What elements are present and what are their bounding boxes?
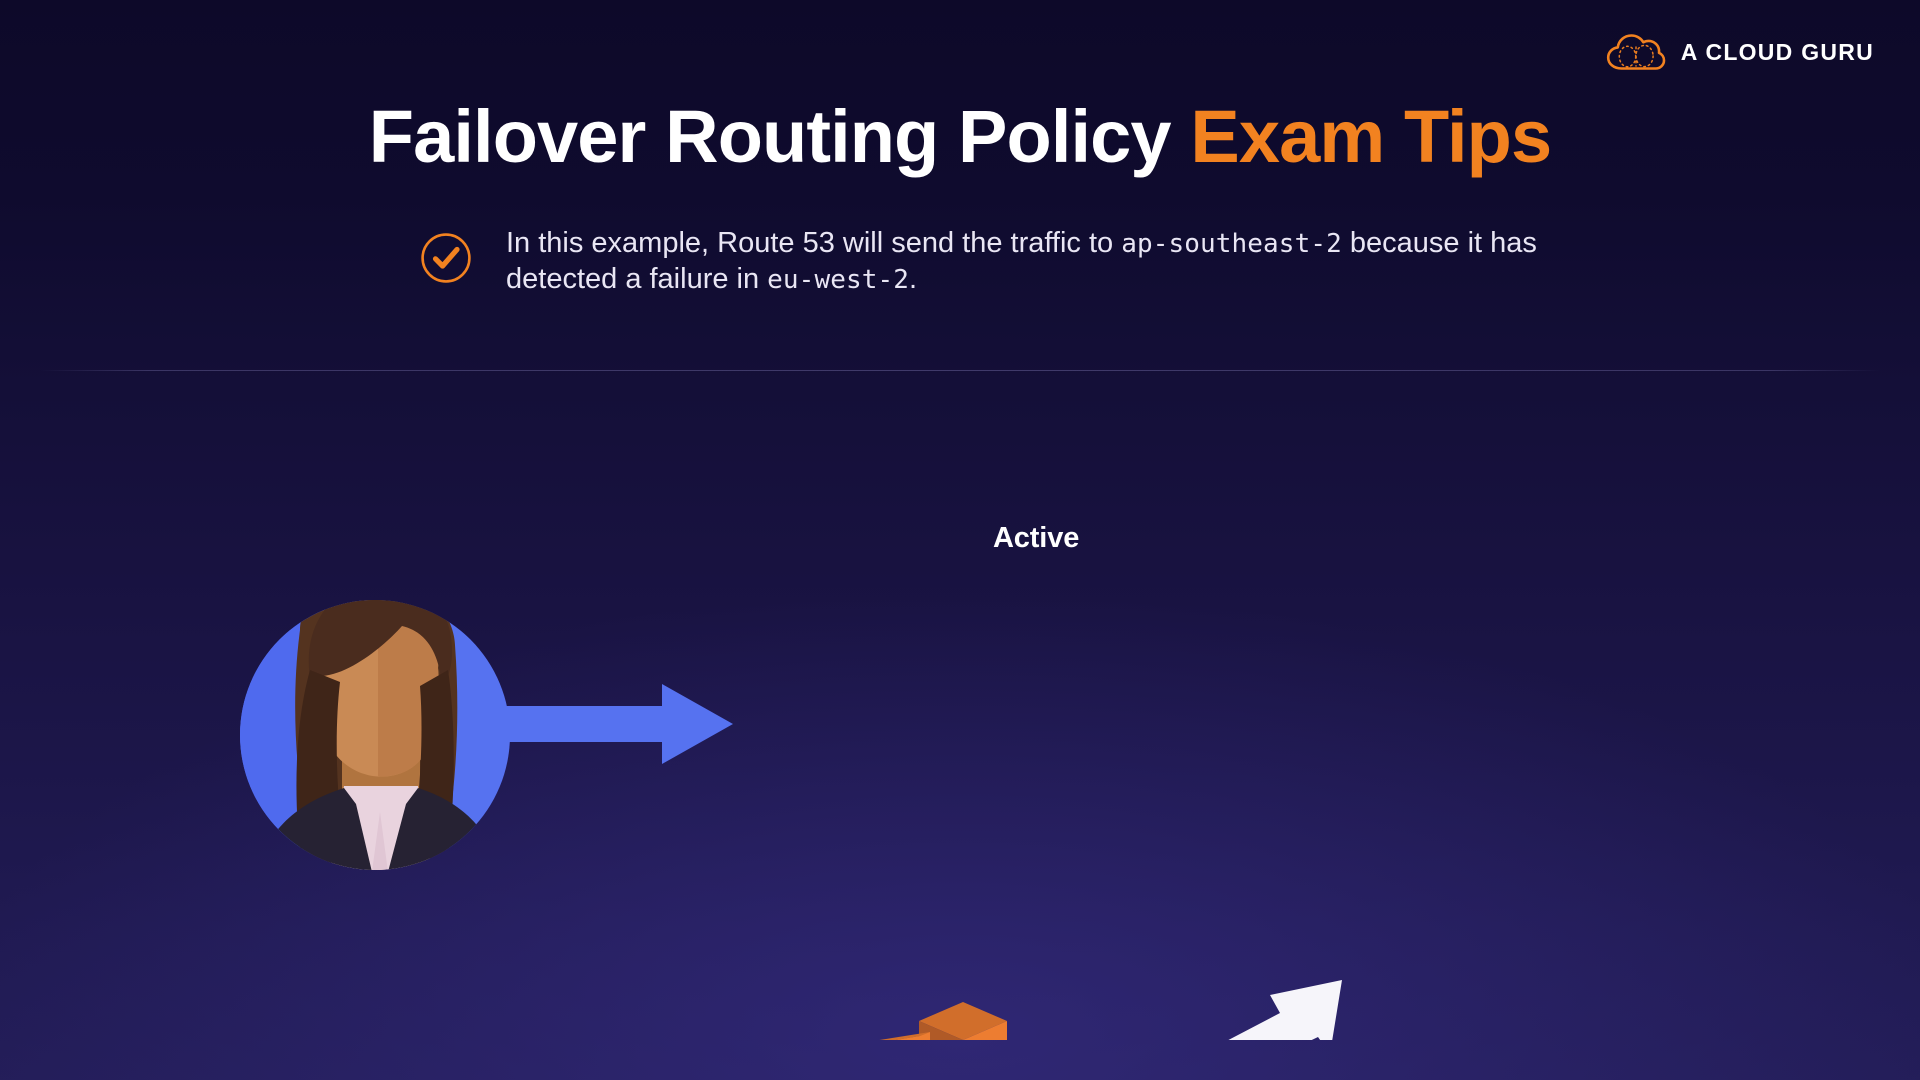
- cloud-brain-icon: [1605, 32, 1667, 72]
- page-title-main: Failover Routing Policy: [369, 95, 1171, 178]
- exam-tip-bullet: In this example, Route 53 will send the …: [420, 226, 1600, 297]
- page-title-accent: Exam Tips: [1190, 95, 1551, 178]
- region-code-primary: ap-southeast-2: [1121, 229, 1342, 259]
- user-avatar-icon: [222, 581, 510, 872]
- right-arrow-icon: [500, 684, 733, 764]
- exam-tip-text: In this example, Route 53 will send the …: [506, 226, 1566, 297]
- failover-diagram: [0, 420, 1920, 1040]
- region-code-secondary: eu-west-2: [767, 265, 909, 295]
- route53-signpost-icon: [791, 1002, 1136, 1040]
- check-circle-icon: [420, 232, 472, 284]
- section-divider: [40, 370, 1880, 371]
- diagonal-arrow-icon: [1068, 980, 1342, 1040]
- tip-text-segment-3: .: [909, 263, 917, 295]
- brand-logo: A CLOUD GURU: [1605, 28, 1874, 76]
- active-path-label: Active: [993, 522, 1079, 555]
- tip-text-segment-1: In this example, Route 53 will send the …: [506, 227, 1121, 259]
- page-title: Failover Routing Policy Exam Tips: [0, 98, 1920, 176]
- diagram-svg: [0, 420, 1920, 1040]
- slide-canvas: A CLOUD GURU Failover Routing Policy Exa…: [0, 0, 1920, 1080]
- brand-name: A CLOUD GURU: [1681, 41, 1874, 64]
